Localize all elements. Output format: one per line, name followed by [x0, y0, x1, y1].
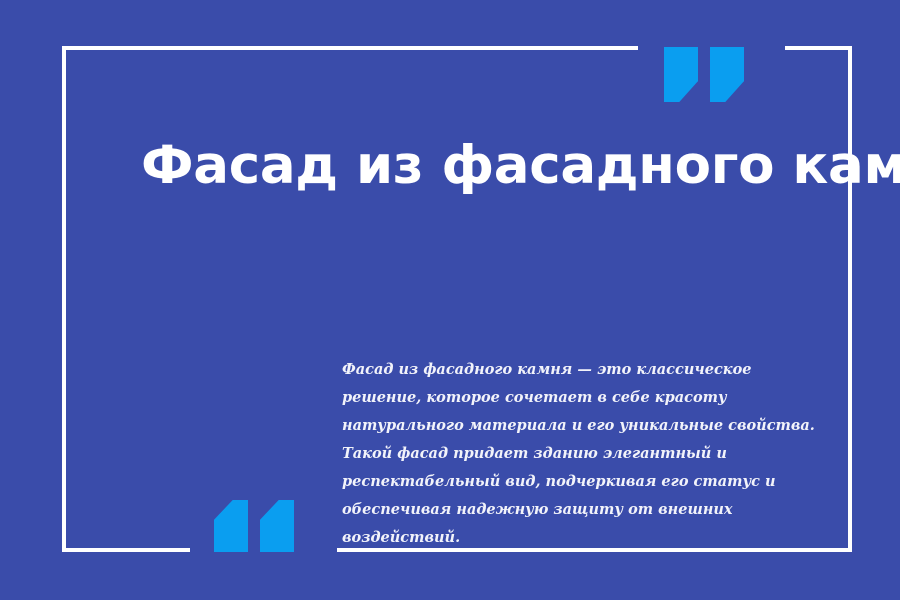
- slide-canvas: Фасад из фасадного камня Фасад из фасадн…: [0, 0, 900, 600]
- opening-quote-icon: [214, 500, 294, 552]
- closing-quote-glyph-second: [710, 47, 744, 102]
- opening-quote-glyph-first: [214, 500, 248, 552]
- closing-quote-glyph-first: [664, 47, 698, 102]
- frame-border-top-right: [785, 46, 852, 50]
- opening-quote-glyph-second: [260, 500, 294, 552]
- frame-border-top-left: [62, 46, 638, 50]
- slide-body-paragraph: Фасад из фасадного камня — это классичес…: [342, 356, 818, 552]
- frame-border-bottom-left: [62, 548, 190, 552]
- frame-border-left: [62, 46, 66, 552]
- closing-quote-icon: [664, 47, 744, 102]
- frame-border-right: [848, 46, 852, 552]
- slide-title: Фасад из фасадного камня: [141, 137, 821, 195]
